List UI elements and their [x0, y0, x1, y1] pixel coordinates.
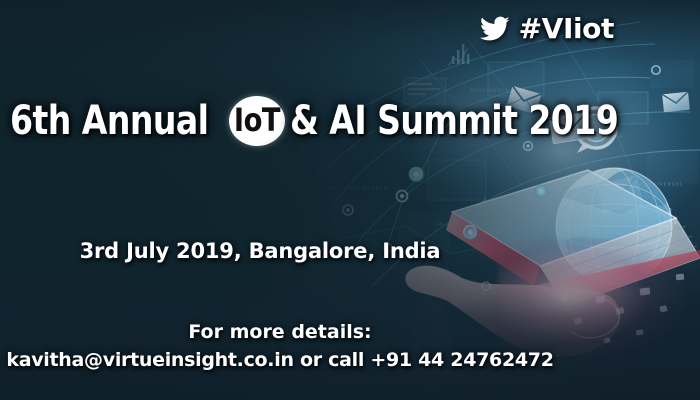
twitter-bird-icon[interactable]: [480, 16, 510, 42]
contact-details[interactable]: kavitha@virtueinsight.co.in or call +91 …: [0, 349, 560, 371]
hashtag-text: #VIiot: [519, 12, 614, 45]
title-part-after: & AI Summit 2019: [290, 101, 618, 141]
event-banner: NETWORK SEARCH MULTIMEDIA ONLINE SMART U…: [0, 0, 700, 400]
contact-block: For more details: kavitha@virtueinsight.…: [0, 321, 560, 371]
contact-heading: For more details:: [0, 321, 560, 343]
iot-badge-label: IoT: [230, 96, 283, 146]
iot-badge: IoT: [229, 96, 285, 146]
event-date-location: 3rd July 2019, Bangalore, India: [0, 239, 520, 263]
page-title: 6th Annual IoT & AI Summit 2019: [10, 95, 647, 147]
title-part-before: 6th Annual: [10, 101, 208, 141]
social-hashtag[interactable]: #VIiot: [480, 12, 614, 45]
